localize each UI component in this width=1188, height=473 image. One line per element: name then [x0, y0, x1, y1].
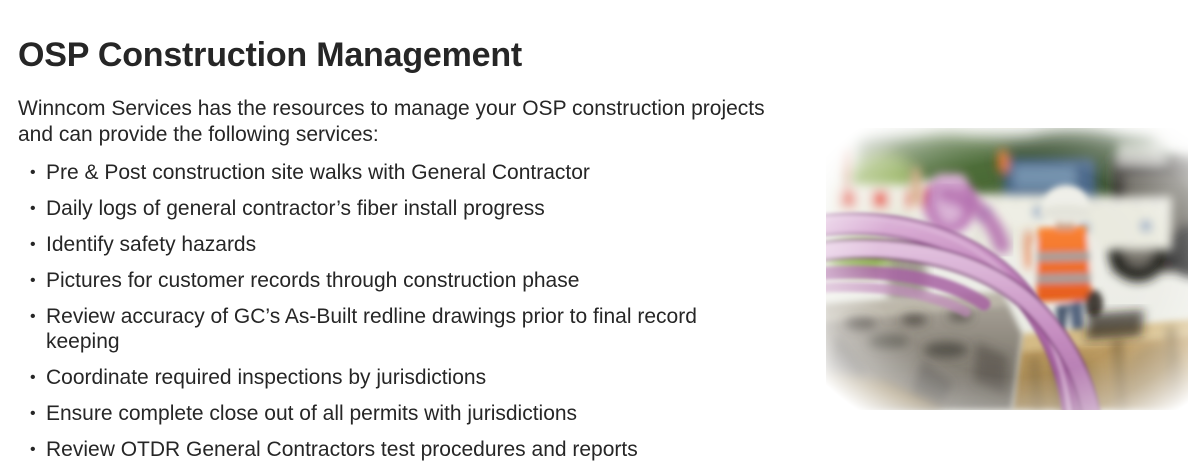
list-item: • Identify safety hazards [18, 232, 770, 257]
bullet-dot-icon: • [30, 401, 36, 426]
bullet-dot-icon: • [30, 268, 36, 293]
body-text-column: Winncom Services has the resources to ma… [18, 96, 770, 473]
list-item-label: Review accuracy of GC’s As-Built redline… [46, 305, 697, 353]
bullet-dot-icon: • [30, 437, 36, 462]
bullet-dot-icon: • [30, 196, 36, 221]
list-item: • Pictures for customer records through … [18, 268, 770, 293]
list-item: • Coordinate required inspections by jur… [18, 365, 770, 390]
list-item-label: Coordinate required inspections by juris… [46, 366, 486, 389]
list-item-label: Daily logs of general contractor’s fiber… [46, 197, 545, 220]
list-item: • Ensure complete close out of all permi… [18, 401, 770, 426]
bullet-dot-icon: • [30, 304, 36, 329]
bullet-dot-icon: • [30, 365, 36, 390]
list-item: • Pre & Post construction site walks wit… [18, 160, 770, 185]
osp-construction-site-photo [826, 128, 1188, 410]
photo-soft-edge-frame [826, 128, 1188, 410]
photo-illustration [826, 128, 1188, 410]
page-title: OSP Construction Management [18, 36, 522, 75]
list-item: • Daily logs of general contractor’s fib… [18, 196, 770, 221]
list-item-label: Pre & Post construction site walks with … [46, 161, 590, 184]
bullet-dot-icon: • [30, 160, 36, 185]
list-item-label: Identify safety hazards [46, 233, 256, 256]
intro-paragraph: Winncom Services has the resources to ma… [18, 96, 770, 148]
list-item: • Review OTDR General Contractors test p… [18, 437, 770, 462]
list-item-label: Pictures for customer records through co… [46, 269, 579, 292]
services-bullet-list: • Pre & Post construction site walks wit… [18, 160, 770, 462]
bullet-dot-icon: • [30, 232, 36, 257]
list-item-label: Ensure complete close out of all permits… [46, 402, 577, 425]
list-item: • Review accuracy of GC’s As-Built redli… [18, 304, 770, 354]
